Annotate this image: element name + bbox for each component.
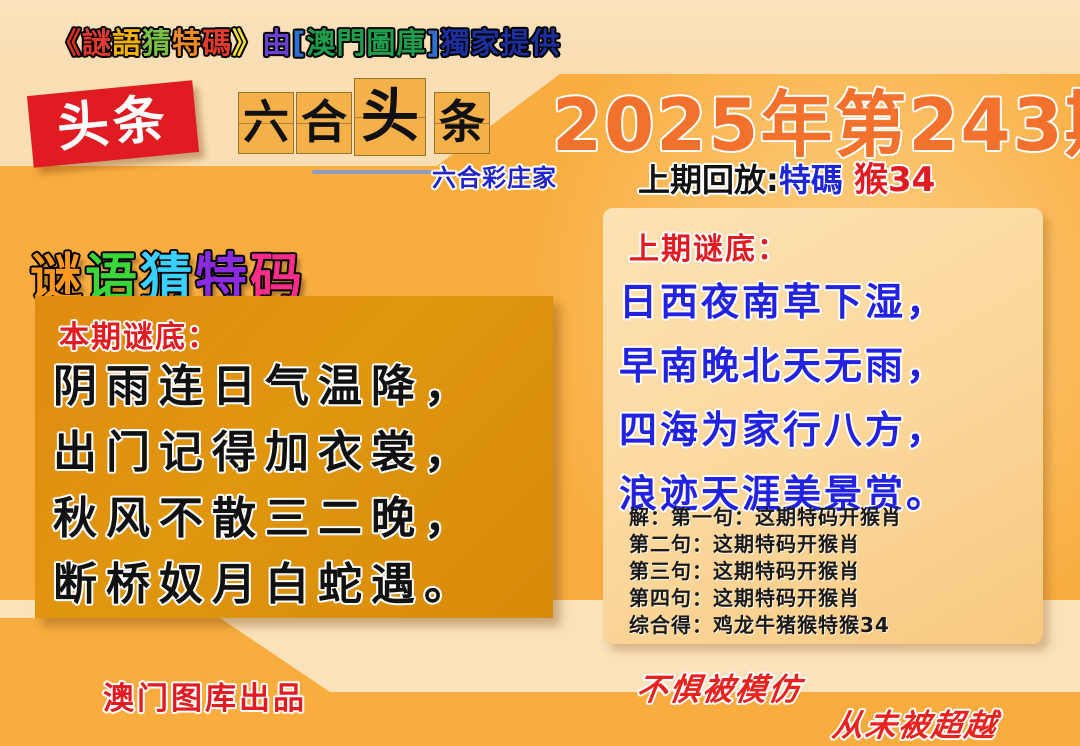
tagline-part-11: 獨家提供 bbox=[441, 20, 561, 62]
logo-grid-cell-1: 合 bbox=[296, 92, 352, 154]
tagline-part-10: ] bbox=[426, 26, 440, 60]
tagline-part-4: 特 bbox=[172, 20, 202, 62]
previous-draw-label: 上期回放: bbox=[638, 161, 779, 199]
explanation-line-2: 第三句：这期特码开猴肖 bbox=[629, 558, 1033, 585]
current-riddle-card: 本期谜底： 阴雨连日气温降，出门记得加衣裳，秋风不散三二晚，断桥奴月白蛇遇。 bbox=[35, 296, 553, 618]
poster-canvas: 《謎語猜特碼》 由 [澳門圖庫] 獨家提供 头条 六合头条 六合彩庄家 2025… bbox=[0, 0, 1080, 746]
answer-line-0: 日西夜南草下湿， bbox=[619, 270, 1035, 334]
tagline-part-5: 碼 bbox=[202, 20, 232, 62]
logo-grid-cell-3: 条 bbox=[434, 92, 490, 154]
subtitle-rule bbox=[312, 170, 440, 174]
tagline-part-8: [ bbox=[292, 26, 306, 60]
tagline-part-2: 語 bbox=[112, 20, 142, 62]
previous-answer-lines: 日西夜南草下湿，早南晚北天无雨，四海为家行八方，浪迹天涯美景赏。 bbox=[619, 270, 1035, 526]
riddle-line-1: 出门记得加衣裳， bbox=[53, 420, 543, 486]
riddle-line-0: 阴雨连日气温降， bbox=[53, 354, 543, 420]
answer-line-1: 早南晚北天无雨， bbox=[619, 334, 1035, 398]
logo-grid-char-0: 六 bbox=[239, 99, 293, 145]
footer-brand: 澳门图库出品 bbox=[103, 673, 307, 718]
tagline-part-0: 《 bbox=[52, 20, 82, 62]
explanation-lines: 解：第一句：这期特码开猴肖第二句：这期特码开猴肖第三句：这期特码开猴肖第四句：这… bbox=[629, 504, 1033, 639]
logo-grid-char-2: 头 bbox=[355, 87, 425, 145]
tagline-part-7: 由 bbox=[262, 20, 292, 62]
previous-draw-special-label: 特碼 bbox=[779, 161, 843, 199]
logo-grid-cell-0: 六 bbox=[238, 92, 294, 154]
explanation-line-0: 解：第一句：这期特码开猴肖 bbox=[629, 504, 1033, 531]
riddle-line-3: 断桥奴月白蛇遇。 bbox=[53, 552, 543, 618]
logo-grid-char-1: 合 bbox=[297, 99, 351, 145]
riddle-line-2: 秋风不散三二晚， bbox=[53, 486, 543, 552]
logo-grid-char-3: 条 bbox=[435, 99, 489, 145]
tagline-part-1: 謎 bbox=[82, 20, 112, 62]
previous-draw-line: 上期回放:特碼 猴34 bbox=[638, 152, 935, 201]
previous-draw-result: 猴34 bbox=[854, 160, 935, 200]
footer-slogan-1: 不惧被模仿 bbox=[634, 664, 805, 709]
tagline-part-6: 》 bbox=[232, 20, 262, 62]
previous-riddle-title: 上期谜底： bbox=[629, 224, 789, 268]
explanation-line-3: 第四句：这期特码开猴肖 bbox=[629, 585, 1033, 612]
tagline-part-3: 猜 bbox=[142, 20, 172, 62]
previous-riddle-card: 上期谜底： 日西夜南草下湿，早南晚北天无雨，四海为家行八方，浪迹天涯美景赏。 解… bbox=[603, 208, 1043, 644]
answer-line-2: 四海为家行八方， bbox=[619, 398, 1035, 462]
footer-slogan-2: 从未被超越 bbox=[830, 700, 1001, 745]
current-riddle-lines: 阴雨连日气温降，出门记得加衣裳，秋风不散三二晚，断桥奴月白蛇遇。 bbox=[53, 354, 543, 618]
current-riddle-title: 本期谜底： bbox=[59, 312, 219, 356]
tagline: 《謎語猜特碼》 由 [澳門圖庫] 獨家提供 bbox=[52, 20, 561, 62]
explanation-line-4: 综合得：鸡龙牛猪猴特猴34 bbox=[629, 612, 1033, 639]
subtitle-text: 六合彩庄家 bbox=[432, 158, 557, 193]
explanation-line-1: 第二句：这期特码开猴肖 bbox=[629, 531, 1033, 558]
tagline-part-9: 澳門圖庫 bbox=[306, 20, 426, 62]
logo-grid-cell-2: 头 bbox=[354, 78, 426, 156]
